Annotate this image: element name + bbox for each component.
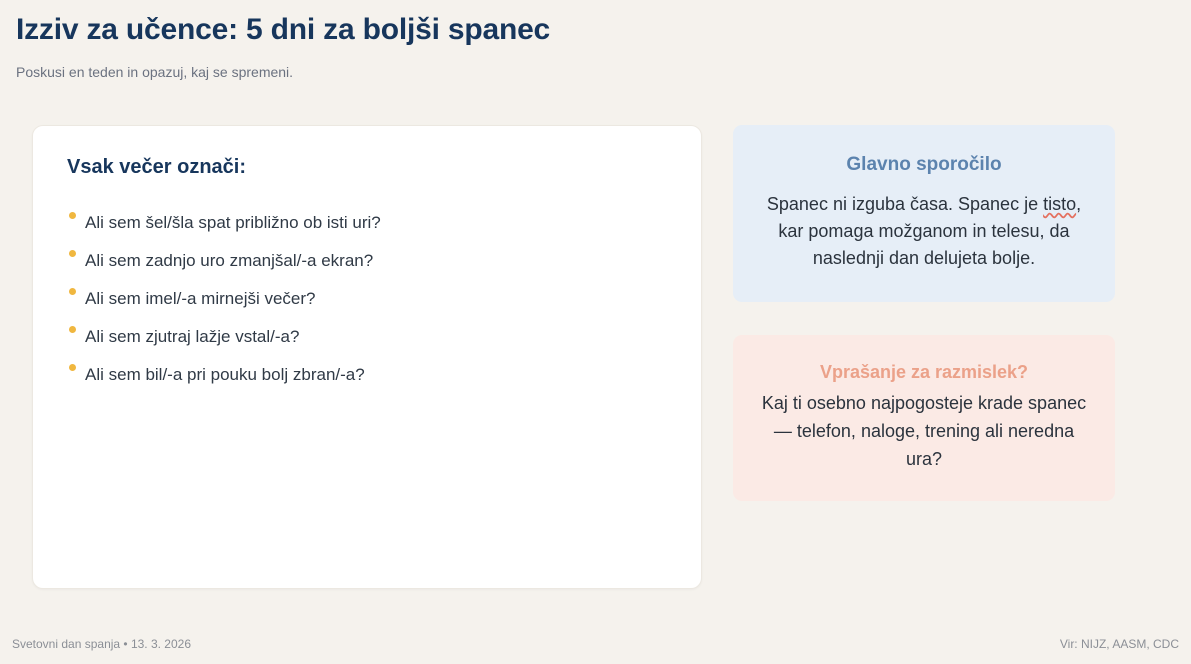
page-footer: Svetovni dan spanja • 13. 3. 2026 Vir: N… — [12, 636, 1179, 652]
misspelled-word: tisto — [1043, 194, 1076, 214]
checklist-item-label: Ali sem bil/-a pri pouku bolj zbran/-a? — [85, 365, 365, 384]
bullet-dot-icon — [69, 250, 76, 257]
reflection-question-body: Kaj ti osebno najpogosteje krade spanec … — [757, 384, 1091, 473]
key-message-title: Glavno sporočilo — [757, 153, 1091, 177]
checklist: Ali sem šel/šla spat približno ob isti u… — [67, 180, 667, 387]
key-message-body-part-1: Spanec ni izguba časa. Spanec je — [767, 194, 1043, 214]
checklist-item[interactable]: Ali sem imel/-a mirnejši večer? — [67, 273, 667, 311]
key-message-card: Glavno sporočilo Spanec ni izguba časa. … — [733, 125, 1115, 302]
bullet-dot-icon — [69, 364, 76, 371]
checklist-item-label: Ali sem zadnjo uro zmanjšal/-a ekran? — [85, 251, 373, 270]
footer-event-date: Svetovni dan spanja • 13. 3. 2026 — [12, 636, 191, 652]
checklist-item[interactable]: Ali sem bil/-a pri pouku bolj zbran/-a? — [67, 349, 667, 387]
reflection-question-title: Vprašanje za razmislek? — [757, 360, 1091, 384]
footer-sources: Vir: NIJZ, AASM, CDC — [1060, 636, 1179, 652]
checklist-card: Vsak večer označi: Ali sem šel/šla spat … — [32, 125, 702, 589]
page-title: Izziv za učence: 5 dni za boljši spanec — [16, 12, 1175, 48]
content-area: Vsak večer označi: Ali sem šel/šla spat … — [32, 125, 1115, 591]
checklist-item[interactable]: Ali sem zjutraj lažje vstal/-a? — [67, 311, 667, 349]
checklist-heading: Vsak večer označi: — [67, 154, 667, 180]
key-message-body: Spanec ni izguba časa. Spanec je tisto, … — [757, 177, 1091, 272]
bullet-dot-icon — [69, 326, 76, 333]
bullet-dot-icon — [69, 288, 76, 295]
checklist-item-label: Ali sem zjutraj lažje vstal/-a? — [85, 327, 299, 346]
reflection-question-card: Vprašanje za razmislek? Kaj ti osebno na… — [733, 335, 1115, 501]
page-header: Izziv za učence: 5 dni za boljši spanec … — [16, 12, 1175, 81]
checklist-item[interactable]: Ali sem šel/šla spat približno ob isti u… — [67, 197, 667, 235]
checklist-item-label: Ali sem šel/šla spat približno ob isti u… — [85, 213, 381, 232]
checklist-card-inner: Vsak večer označi: Ali sem šel/šla spat … — [33, 126, 701, 387]
checklist-item[interactable]: Ali sem zadnjo uro zmanjšal/-a ekran? — [67, 235, 667, 273]
checklist-item-label: Ali sem imel/-a mirnejši večer? — [85, 289, 316, 308]
page-subtitle: Poskusi en teden in opazuj, kaj se sprem… — [16, 48, 1175, 81]
bullet-dot-icon — [69, 212, 76, 219]
side-column: Glavno sporočilo Spanec ni izguba časa. … — [733, 125, 1115, 501]
